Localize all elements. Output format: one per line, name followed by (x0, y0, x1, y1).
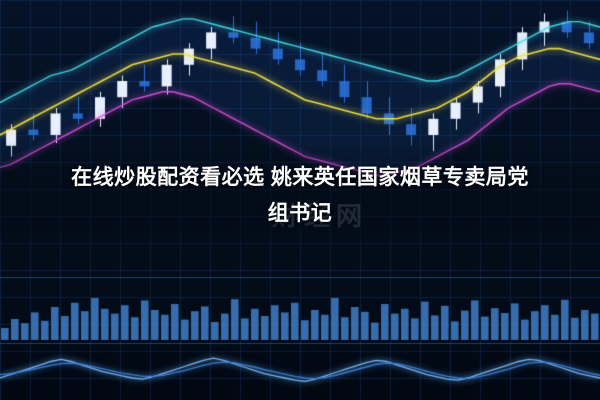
headline-overlay: 在线炒股配资看必选 姚来英任国家烟草专卖局党 组书记 (0, 160, 600, 232)
stock-chart-image: 财经网 在线炒股配资看必选 姚来英任国家烟草专卖局党 组书记 (0, 0, 600, 400)
headline-line-1: 在线炒股配资看必选 姚来英任国家烟草专卖局党 (14, 160, 586, 196)
headline-line-2: 组书记 (14, 196, 586, 232)
